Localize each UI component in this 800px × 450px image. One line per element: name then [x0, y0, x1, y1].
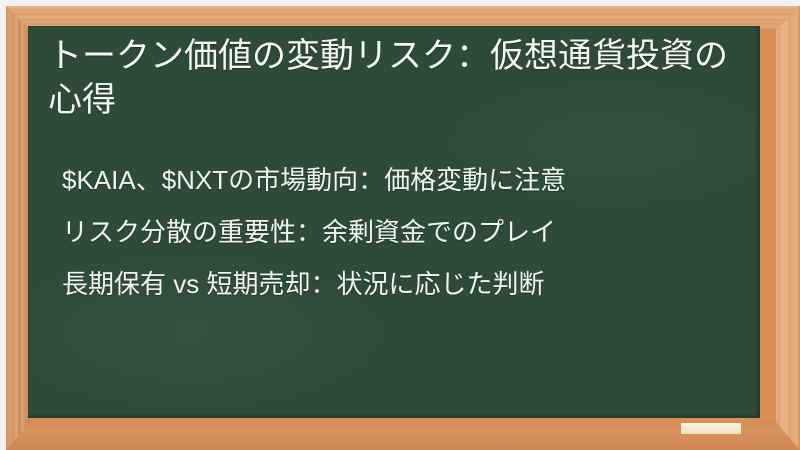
frame-rail-right — [766, 6, 800, 450]
bullet-item-3: 長期保有 vs 短期売却：状況に応じた判断 — [62, 258, 752, 310]
board-title: トークン価値の変動リスク：仮想通貨投資の心得 — [48, 34, 748, 122]
chalkboard-frame: トークン価値の変動リスク：仮想通貨投資の心得 $KAIA、$NXTの市場動向：価… — [6, 6, 800, 450]
bullet-item-2: リスク分散の重要性：余剰資金でのプレイ — [62, 206, 752, 258]
wood-grain-right — [766, 6, 800, 450]
slide-canvas: トークン価値の変動リスク：仮想通貨投資の心得 $KAIA、$NXTの市場動向：価… — [0, 0, 800, 450]
chalkboard-surface: トークン価値の変動リスク：仮想通貨投資の心得 $KAIA、$NXTの市場動向：価… — [28, 26, 760, 418]
chalk-stick — [681, 423, 741, 434]
wood-grain-left — [6, 6, 30, 450]
board-bullet-list: $KAIA、$NXTの市場動向：価格変動に注意 リスク分散の重要性：余剰資金での… — [62, 154, 752, 310]
bullet-item-1: $KAIA、$NXTの市場動向：価格変動に注意 — [62, 154, 752, 206]
frame-rail-left — [6, 6, 30, 450]
